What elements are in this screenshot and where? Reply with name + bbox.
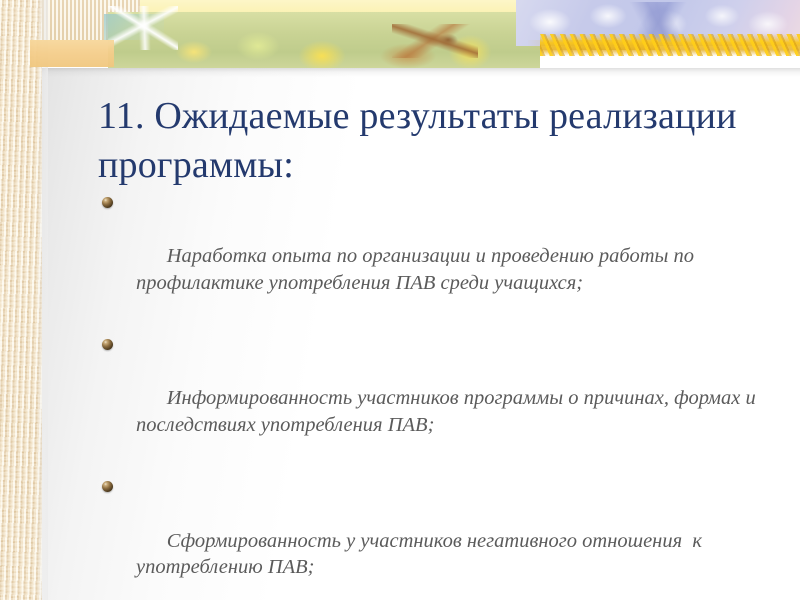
banner-drop-shadow <box>42 68 800 77</box>
list-item-text: Наработка опыта по организации и проведе… <box>136 245 699 294</box>
list-item-text: Информированность участников программы о… <box>136 387 761 436</box>
presentation-slide: 11. Ожидаемые результаты реализации прог… <box>0 0 800 600</box>
list-item: Сформированность у участников негативног… <box>96 474 782 600</box>
sphere-bullet-icon <box>102 481 113 492</box>
tan-accent-rectangle <box>30 40 114 67</box>
list-item-text: Сформированность у участников негативног… <box>136 530 707 579</box>
sphere-bullet-icon <box>102 197 113 208</box>
brown-insect-shape <box>392 24 478 58</box>
nature-photo-banner <box>0 0 800 68</box>
slide-title: 11. Ожидаемые результаты реализации прог… <box>98 92 738 189</box>
list-item: Информированность участников программы о… <box>96 332 782 465</box>
golden-wheat-sprig <box>540 34 800 56</box>
expected-results-list: Наработка опыта по организации и проведе… <box>96 190 782 600</box>
sphere-bullet-icon <box>102 339 113 350</box>
white-lily-shape <box>108 6 178 50</box>
parchment-border-fade <box>36 0 48 600</box>
list-item: Наработка опыта по организации и проведе… <box>96 190 782 323</box>
